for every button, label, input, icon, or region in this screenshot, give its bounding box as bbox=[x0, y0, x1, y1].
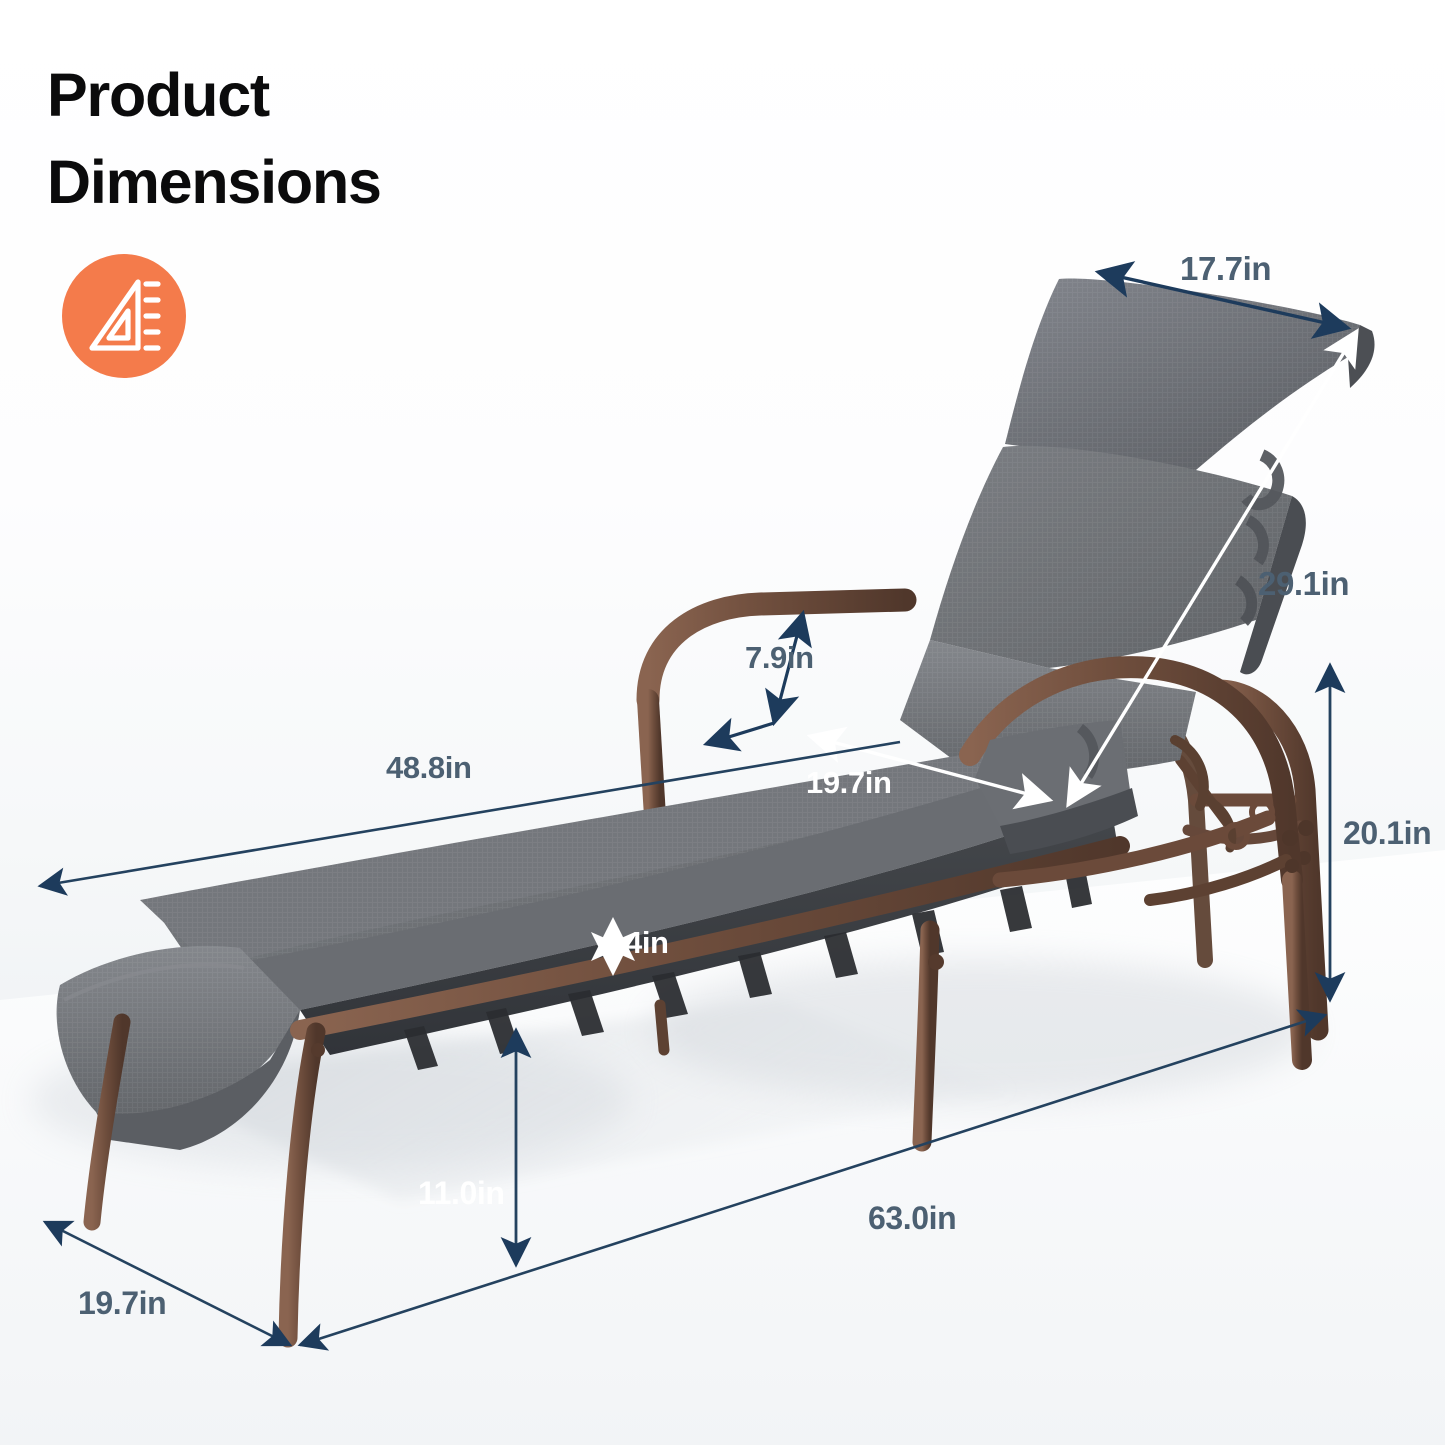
dim-label-backrest-height: 29.1in bbox=[1258, 565, 1349, 603]
product-dimensions-infographic: 17.7in 29.1in 7.9in 19.7in 48.8in 4in 11… bbox=[0, 0, 1445, 1445]
dim-label-cushion-thickness: 4in bbox=[625, 925, 669, 961]
page-title: Product Dimensions bbox=[47, 52, 707, 226]
page-title-line-1: Product bbox=[47, 52, 707, 139]
dim-label-overall-height: 20.1in bbox=[1343, 815, 1431, 852]
dim-label-cushion-length: 48.8in bbox=[386, 750, 471, 786]
dim-label-overall-depth: 19.7in bbox=[78, 1285, 166, 1322]
page-title-line-2: Dimensions bbox=[47, 139, 707, 226]
ruler-triangle-icon bbox=[62, 254, 186, 378]
dim-label-seat-width: 19.7in bbox=[806, 765, 891, 801]
backrest-cushion bbox=[900, 278, 1375, 777]
dim-label-armrest-to-seat: 7.9in bbox=[745, 640, 814, 676]
dim-label-seat-height: 11.0in bbox=[418, 1175, 505, 1212]
dim-label-backrest-width: 17.7in bbox=[1180, 250, 1271, 288]
dim-label-overall-length: 63.0in bbox=[868, 1200, 956, 1237]
